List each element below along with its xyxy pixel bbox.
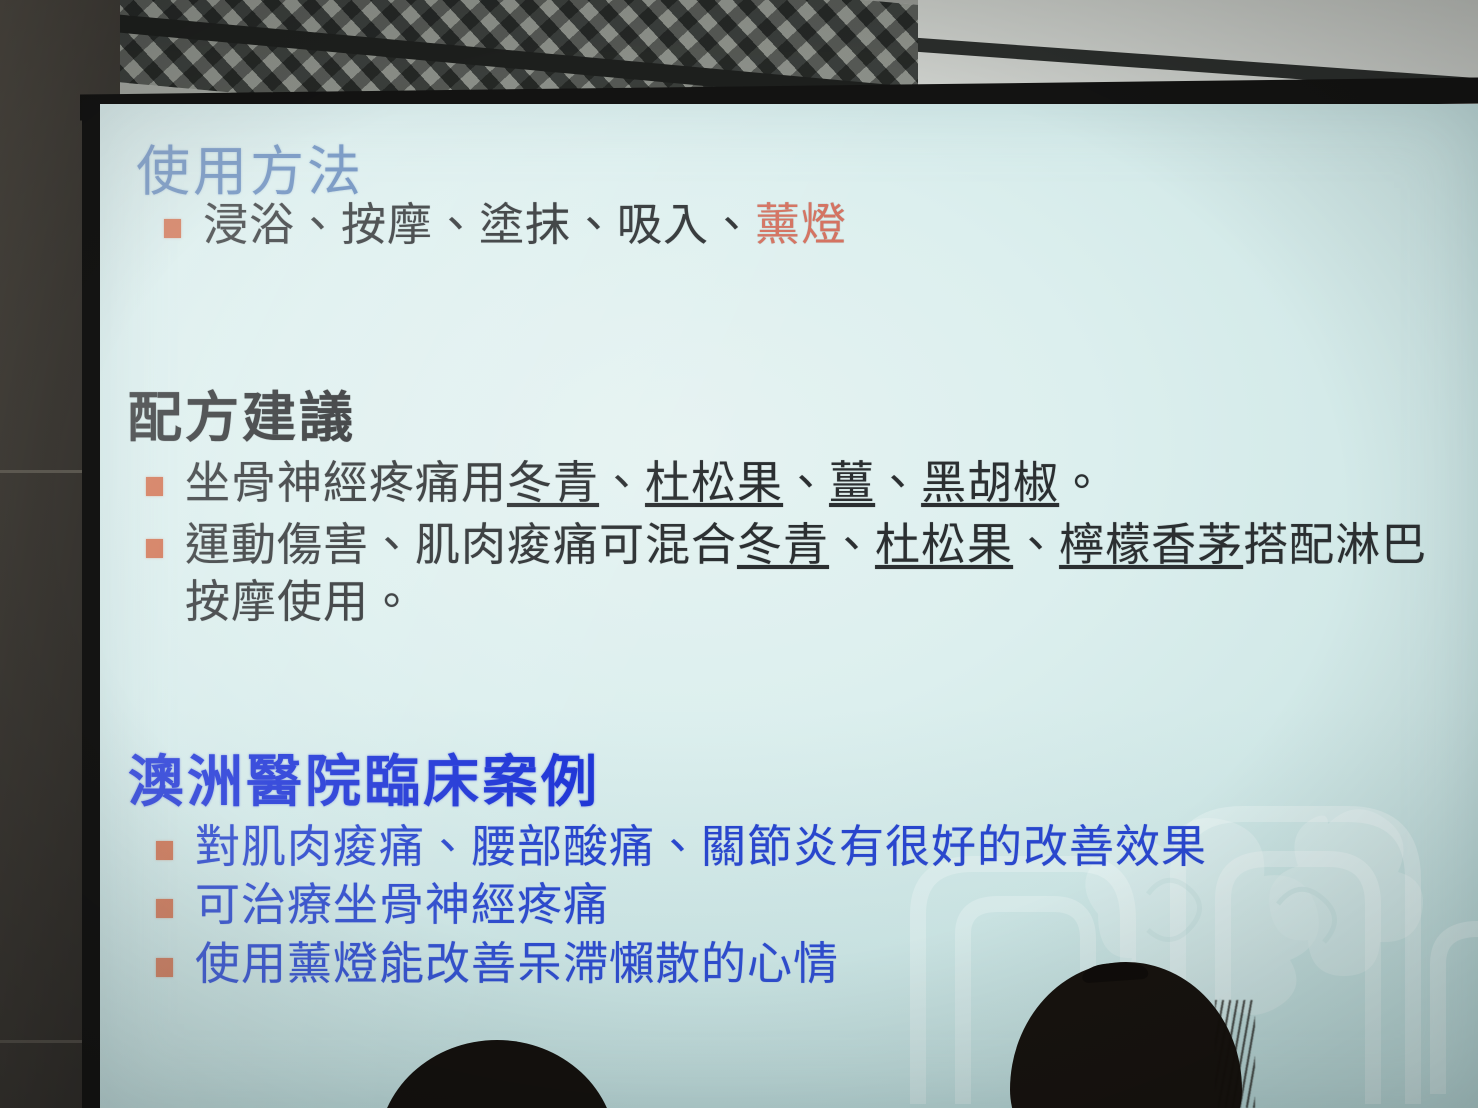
bullet-clinical-3: 使用薰燈能改善呆滯懶散的心情 bbox=[128, 936, 1207, 993]
bullet-formula-2: 運動傷害、肌肉痠痛可混合冬青、杜松果、檸檬香茅搭配淋巴按摩使用。 bbox=[128, 517, 1466, 630]
bullet-text: 浸浴、按摩、塗抹、吸入、薰燈 bbox=[203, 197, 847, 254]
bullet-text-part: 浸浴、按摩、塗抹、吸入、 bbox=[203, 198, 755, 251]
bullet-formula-1: 坐骨神經疼痛用冬青、杜松果、薑、黑胡椒。 bbox=[128, 455, 1466, 512]
heading-clinical-cases: 澳洲醫院臨床案例 bbox=[128, 754, 1207, 813]
bullet-text-part-underlined: 冬青 bbox=[737, 518, 829, 571]
heading-usage-methods: 使用方法 bbox=[136, 144, 847, 201]
bullet-text-part: 坐骨神經疼痛用 bbox=[185, 456, 507, 509]
bullet-usage-methods-1: 浸浴、按摩、塗抹、吸入、薰燈 bbox=[136, 197, 847, 254]
bullet-text-part: 、 bbox=[783, 456, 829, 509]
projection-screen: 使用方法 浸浴、按摩、塗抹、吸入、薰燈 配方建議 坐骨神經疼痛用冬青、杜松果、薑… bbox=[100, 104, 1478, 1108]
bullet-square-icon bbox=[164, 219, 181, 238]
screenshot-root: 使用方法 浸浴、按摩、塗抹、吸入、薰燈 配方建議 坐骨神經疼痛用冬青、杜松果、薑… bbox=[0, 0, 1478, 1108]
bullet-text-part-underlined: 薑 bbox=[829, 456, 875, 509]
section-clinical-cases: 澳洲醫院臨床案例 對肌肉痠痛、腰部酸痛、關節炎有很好的改善效果 可治療坐骨神經疼… bbox=[128, 754, 1207, 993]
bullet-text-part-underlined: 檸檬香茅 bbox=[1059, 518, 1243, 571]
bullet-text: 對肌肉痠痛、腰部酸痛、關節炎有很好的改善效果 bbox=[195, 819, 1207, 876]
bullet-text-part: 、 bbox=[829, 518, 875, 571]
slide-content: 使用方法 浸浴、按摩、塗抹、吸入、薰燈 配方建議 坐骨神經疼痛用冬青、杜松果、薑… bbox=[100, 104, 1478, 1108]
section-formula-suggestions: 配方建議 坐骨神經疼痛用冬青、杜松果、薑、黑胡椒。 運動傷害、肌肉痠痛可混合冬青… bbox=[128, 390, 1466, 631]
bullet-text: 可治療坐骨神經疼痛 bbox=[195, 877, 609, 934]
bullet-text-part-underlined: 黑胡椒 bbox=[921, 456, 1059, 509]
bullet-text-part-underlined: 杜松果 bbox=[875, 518, 1013, 571]
bullet-square-icon bbox=[156, 958, 173, 977]
bullet-square-icon bbox=[146, 539, 163, 558]
audience-head-right-hair-wisps bbox=[1215, 1000, 1255, 1108]
bullet-text: 運動傷害、肌肉痠痛可混合冬青、杜松果、檸檬香茅搭配淋巴按摩使用。 bbox=[185, 517, 1466, 630]
bullet-text-part: 、 bbox=[599, 456, 645, 509]
bullet-text-part: 運動傷害、肌肉痠痛可混合 bbox=[185, 518, 737, 571]
heading-formula-suggestions: 配方建議 bbox=[128, 390, 1466, 447]
bullet-text-part: 、 bbox=[875, 456, 921, 509]
bullet-text: 坐骨神經疼痛用冬青、杜松果、薑、黑胡椒。 bbox=[185, 455, 1105, 512]
bullet-clinical-2: 可治療坐骨神經疼痛 bbox=[128, 877, 1207, 934]
section-usage-methods: 使用方法 浸浴、按摩、塗抹、吸入、薰燈 bbox=[136, 144, 847, 253]
bullet-square-icon bbox=[146, 477, 163, 496]
bullet-square-icon bbox=[156, 899, 173, 918]
bullet-square-icon bbox=[156, 841, 173, 860]
bullet-text-part: 、 bbox=[1013, 518, 1059, 571]
bullet-clinical-1: 對肌肉痠痛、腰部酸痛、關節炎有很好的改善效果 bbox=[128, 819, 1207, 876]
bullet-text-part-underlined: 杜松果 bbox=[645, 456, 783, 509]
bullet-text-part-underlined: 冬青 bbox=[507, 456, 599, 509]
bullet-text-part: 。 bbox=[1059, 456, 1105, 509]
bullet-text-part-highlight: 薰燈 bbox=[755, 198, 847, 251]
bullet-text: 使用薰燈能改善呆滯懶散的心情 bbox=[195, 936, 839, 993]
